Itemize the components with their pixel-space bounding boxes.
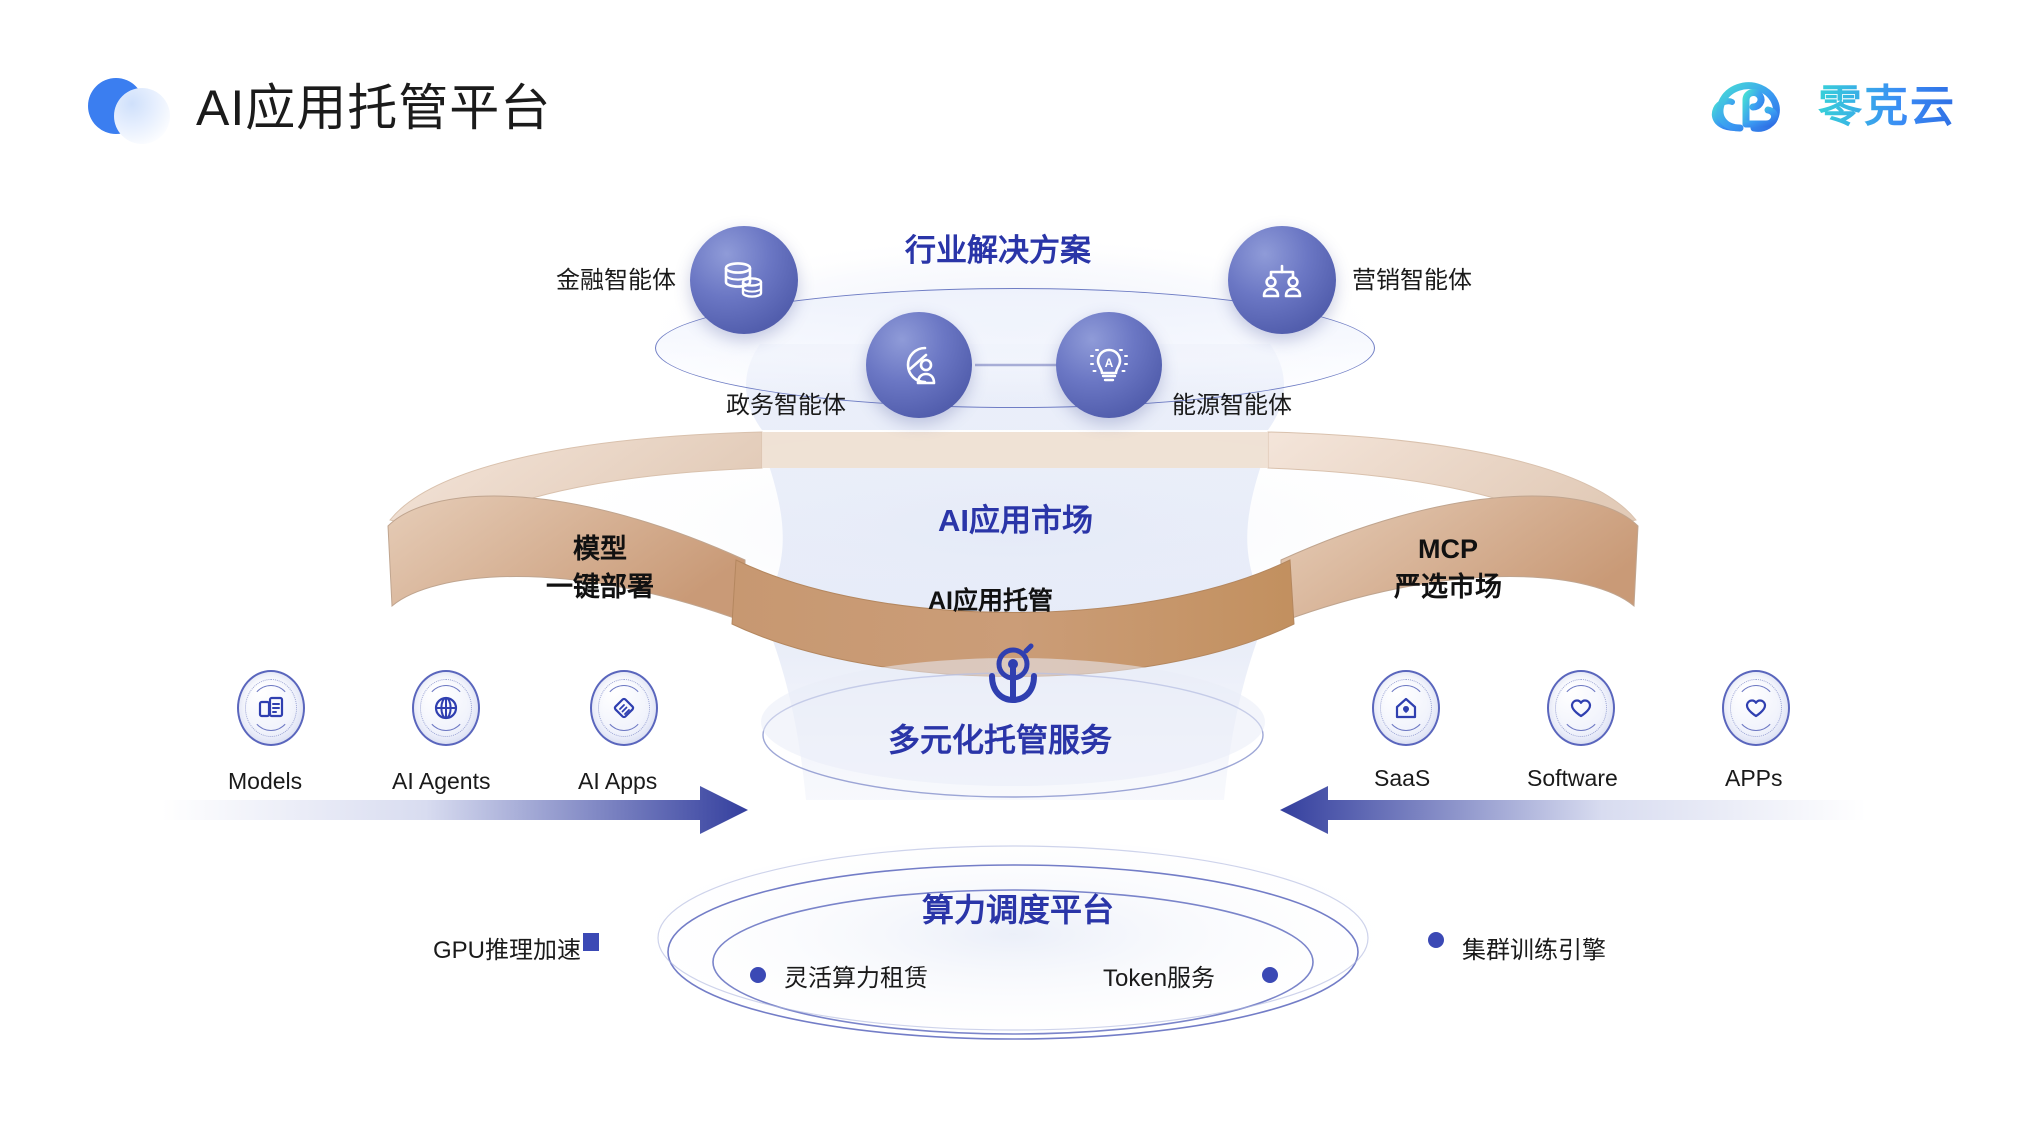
lingke-cloud-mark-icon (1706, 62, 1802, 142)
compute-marker-gpu (583, 933, 599, 951)
svg-text:A: A (1105, 356, 1114, 370)
heart-icon (1722, 670, 1790, 746)
agent-sphere-government[interactable] (866, 312, 972, 418)
brand-logo: 零克云 (1706, 62, 1956, 142)
compute-label-cluster: 集群训练引擎 (1462, 930, 1606, 965)
chip-label-apps: APPs (1725, 765, 1783, 792)
industry-solutions-title: 行业解决方案 (905, 225, 1091, 270)
compute-marker-rental (750, 967, 766, 983)
compute-marker-cluster (1428, 932, 1444, 948)
chip-models[interactable] (237, 670, 305, 746)
market-segment-left-line2: 一键部署 (520, 568, 680, 606)
lightbulb-ai-icon: A (1084, 340, 1134, 390)
agent-sphere-energy[interactable]: A (1056, 312, 1162, 418)
chip-label-models: Models (228, 768, 302, 795)
market-segment-right[interactable]: MCP 严选市场 (1368, 530, 1528, 606)
market-segment-front[interactable]: AI应用托管 (928, 581, 1053, 617)
market-segment-right-line1: MCP (1368, 530, 1528, 568)
page-title: AI应用托管平台 (196, 68, 551, 140)
two-circles-logo-icon (88, 78, 172, 144)
org-chart-icon (1256, 254, 1308, 306)
chip-ai-apps[interactable] (590, 670, 658, 746)
hosting-services-title: 多元化托管服务 (888, 715, 1112, 761)
chip-ai-agents[interactable] (412, 670, 480, 746)
heart-icon (1547, 670, 1615, 746)
model-box-icon (237, 670, 305, 746)
agent-label-energy: 能源智能体 (1172, 385, 1292, 420)
compute-label-token: Token服务 (1103, 958, 1215, 993)
slide-canvas: AI应用托管平台 零克云 (0, 0, 2018, 1134)
gauge-person-icon (894, 340, 944, 390)
market-segment-left[interactable]: 模型 一键部署 (520, 530, 680, 606)
chip-apps[interactable] (1722, 670, 1790, 746)
agent-sphere-marketing[interactable] (1228, 226, 1336, 334)
chip-software[interactable] (1547, 670, 1615, 746)
database-icon (718, 254, 770, 306)
funnel-graphic (0, 0, 2018, 1134)
agent-label-marketing: 营销智能体 (1352, 260, 1472, 295)
ai-market-title: AI应用市场 (938, 495, 1093, 540)
agent-sphere-finance[interactable] (690, 226, 798, 334)
chip-label-ai-agents: AI Agents (392, 768, 490, 795)
compute-marker-token (1262, 967, 1278, 983)
market-segment-left-line1: 模型 (520, 530, 680, 568)
app-diamond-icon (590, 670, 658, 746)
compute-label-rental: 灵活算力租赁 (784, 958, 928, 993)
compute-platform-title: 算力调度平台 (922, 885, 1114, 931)
agent-label-finance: 金融智能体 (556, 260, 676, 295)
compute-label-gpu: GPU推理加速 (433, 930, 581, 965)
brand-name: 零克云 (1818, 70, 1956, 134)
chip-label-saas: SaaS (1374, 765, 1430, 792)
house-icon (1372, 670, 1440, 746)
chip-label-ai-apps: AI Apps (578, 768, 657, 795)
globe-icon (412, 670, 480, 746)
chip-saas[interactable] (1372, 670, 1440, 746)
agent-label-government: 政务智能体 (726, 385, 846, 420)
sprout-hosting-icon (975, 636, 1051, 712)
market-segment-right-line2: 严选市场 (1368, 568, 1528, 606)
chip-label-software: Software (1527, 765, 1618, 792)
